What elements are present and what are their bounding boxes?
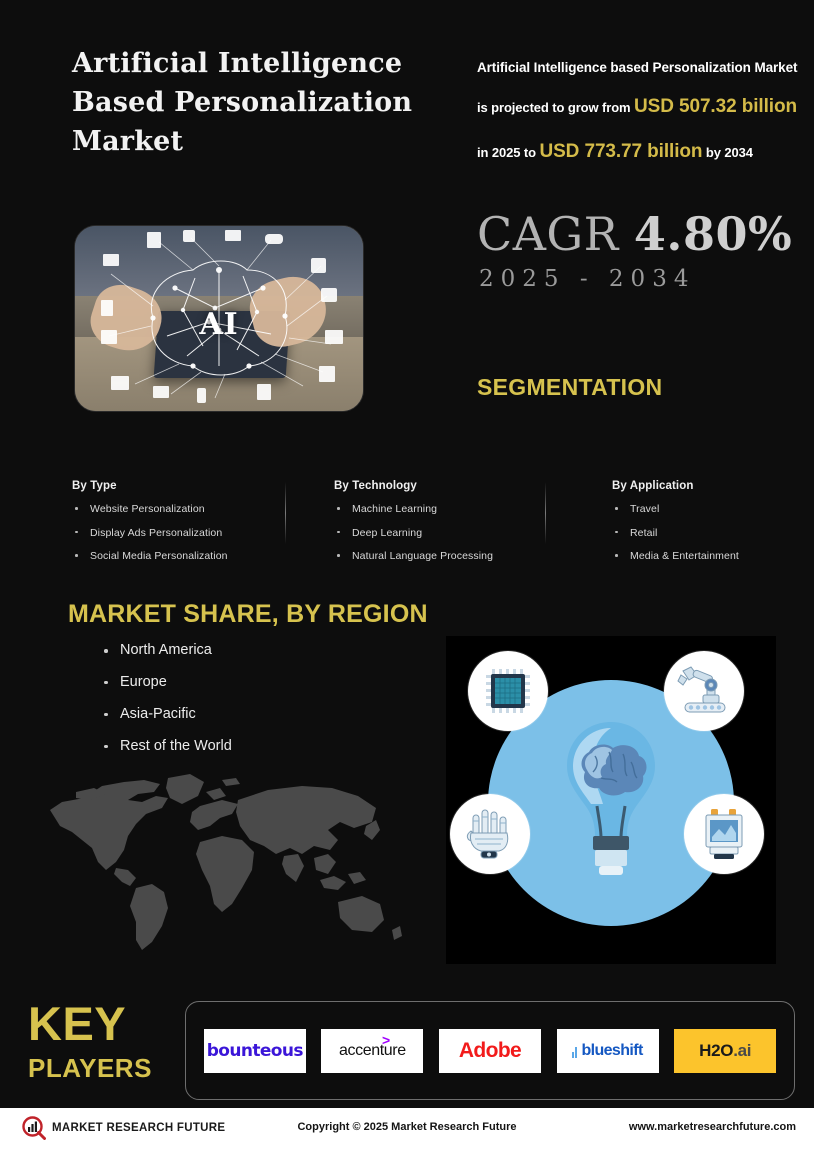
segmentation-item: Natural Language Processing bbox=[334, 550, 574, 563]
logo-text: accenture bbox=[339, 1042, 406, 1059]
segmentation-item: Website Personalization bbox=[72, 503, 277, 516]
segmentation-item: Travel bbox=[612, 503, 812, 516]
segmentation-item: Machine Learning bbox=[334, 503, 574, 516]
market-share-title: MARKET SHARE, BY REGION bbox=[68, 600, 428, 629]
robot-hand-icon bbox=[465, 807, 515, 861]
ai-technology-illustration bbox=[446, 636, 776, 964]
logo-h2o-ai[interactable]: H2O.ai bbox=[674, 1029, 776, 1073]
ai-hero-image: AI bbox=[74, 225, 364, 412]
key-players-line1: KEY bbox=[28, 1002, 178, 1047]
node-microchip bbox=[468, 651, 548, 731]
segmentation-item: Retail bbox=[612, 527, 812, 540]
microchip-icon bbox=[483, 666, 533, 716]
segmentation-divider-1 bbox=[285, 482, 286, 544]
headline-value-end: USD 773.77 billion bbox=[539, 141, 702, 162]
logo-text-wrap: accenture > bbox=[339, 1042, 406, 1060]
segmentation-heading: By Type bbox=[72, 480, 277, 492]
market-share-region-list: North America Europe Asia-Pacific Rest o… bbox=[100, 643, 232, 771]
key-players-line2: PLAYERS bbox=[28, 1053, 178, 1084]
world-map bbox=[32, 770, 432, 960]
node-battery-sensor bbox=[684, 794, 764, 874]
logo-suffix: .ai bbox=[733, 1041, 751, 1060]
infographic-page: Artificial Intelligence Based Personaliz… bbox=[0, 0, 814, 1150]
segmentation-column-by-technology: By Technology Machine Learning Deep Lear… bbox=[334, 480, 574, 574]
region-item: North America bbox=[100, 643, 232, 659]
segmentation-item: Display Ads Personalization bbox=[72, 527, 277, 540]
logo-text: bounteous bbox=[207, 1041, 303, 1061]
logo-bounteous[interactable]: bounteous bbox=[204, 1029, 306, 1073]
logo-text-wrap: H2O.ai bbox=[699, 1041, 751, 1061]
battery-sensor-icon bbox=[701, 807, 747, 861]
blueshift-bars-icon bbox=[572, 1047, 579, 1058]
segmentation-heading: By Application bbox=[612, 480, 812, 492]
logo-blueshift[interactable]: blueshift bbox=[557, 1029, 659, 1073]
segmentation-column-by-application: By Application Travel Retail Media & Ent… bbox=[612, 480, 812, 574]
robot-arm-icon bbox=[677, 665, 731, 717]
cagr-value: 4.80% bbox=[634, 207, 792, 261]
segmentation-item: Social Media Personalization bbox=[72, 550, 277, 563]
region-item: Asia-Pacific bbox=[100, 707, 232, 723]
cagr-years: 2025 - 2034 bbox=[479, 266, 695, 292]
headline-line2-prefix: is projected to grow from bbox=[477, 100, 634, 115]
logo-text: H2O bbox=[699, 1041, 733, 1060]
segmentation-column-by-type: By Type Website Personalization Display … bbox=[72, 480, 277, 574]
headline-value-start: USD 507.32 billion bbox=[634, 96, 797, 117]
segmentation-heading: By Technology bbox=[334, 480, 574, 492]
page-title: Artificial Intelligence Based Personaliz… bbox=[72, 44, 422, 161]
headline-line3-mid: in 2025 to bbox=[477, 145, 539, 160]
segmentation-item: Deep Learning bbox=[334, 527, 574, 540]
cagr-label: CAGR bbox=[477, 207, 619, 261]
headline-statement: Artificial Intelligence based Personaliz… bbox=[477, 52, 807, 174]
footer-url[interactable]: www.marketresearchfuture.com bbox=[629, 1121, 796, 1133]
segmentation-item: Media & Entertainment bbox=[612, 550, 812, 563]
logo-text-wrap: blueshift bbox=[572, 1042, 642, 1060]
accenture-arrow-icon: > bbox=[382, 1032, 390, 1048]
key-players-label: KEY PLAYERS bbox=[28, 1002, 178, 1084]
logo-accenture[interactable]: accenture > bbox=[321, 1029, 423, 1073]
key-players-box: bounteous accenture > Adobe blueshift H2… bbox=[185, 1001, 795, 1100]
ai-label: AI bbox=[75, 307, 363, 342]
node-robot-hand bbox=[450, 794, 530, 874]
node-robot-arm bbox=[664, 651, 744, 731]
cagr-block: CAGR 4.80% bbox=[477, 211, 792, 257]
region-item: Europe bbox=[100, 675, 232, 691]
segmentation-title: SEGMENTATION bbox=[477, 374, 662, 401]
logo-text: blueshift bbox=[581, 1042, 642, 1059]
logo-adobe[interactable]: Adobe bbox=[439, 1029, 541, 1073]
logo-text: Adobe bbox=[459, 1039, 521, 1063]
headline-line3-suffix: by 2034 bbox=[702, 145, 753, 160]
headline-line1: Artificial Intelligence based Personaliz… bbox=[477, 60, 797, 75]
region-item: Rest of the World bbox=[100, 739, 232, 755]
footer: MARKET RESEARCH FUTURE Copyright © 2025 … bbox=[0, 1108, 814, 1150]
lightbulb-brain-icon bbox=[559, 718, 663, 888]
